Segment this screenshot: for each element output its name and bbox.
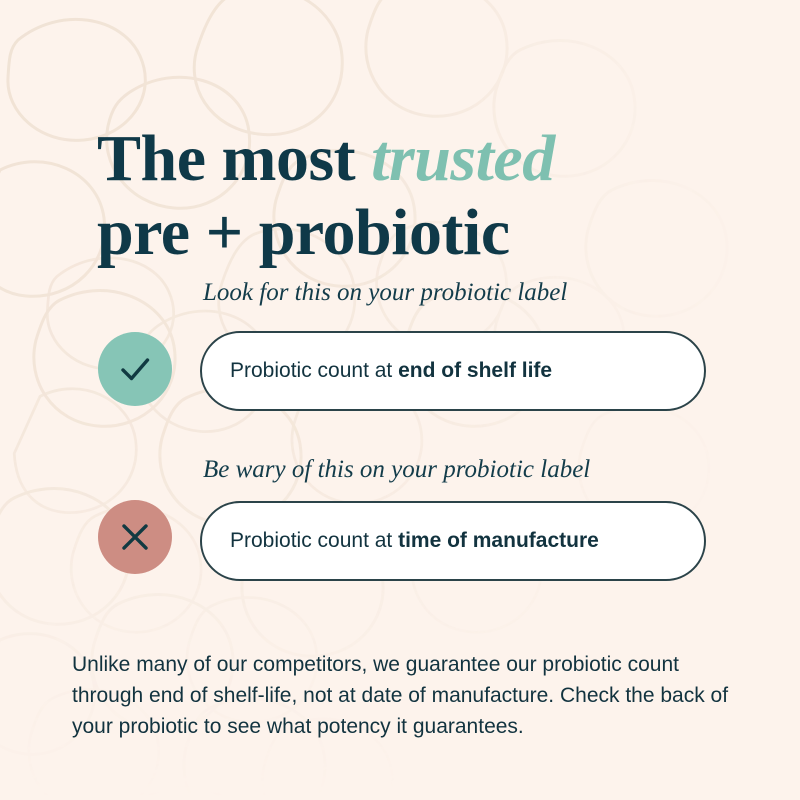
claim-pill-good-text: Probiotic count at end of shelf life — [202, 359, 552, 383]
claim-pill-bad-bold: time of manufacture — [398, 529, 599, 552]
claim-pill-bad: Probiotic count at time of manufacture — [200, 501, 706, 581]
headline-line-2: pre + probiotic — [97, 196, 737, 270]
check-badge — [98, 332, 172, 406]
footnote-text: Unlike many of our competitors, we guara… — [72, 649, 732, 742]
row-label-bad: Be wary of this on your probiotic label — [203, 455, 590, 485]
headline-line-1: The most trusted — [97, 122, 737, 196]
headline-accent-word: trusted — [371, 122, 555, 195]
claim-pill-good-plain: Probiotic count at — [230, 359, 398, 382]
headline-line-1-plain: The most — [97, 122, 371, 195]
promo-graphic: The most trusted pre + probiotic Look fo… — [0, 0, 800, 800]
claim-pill-good-bold: end of shelf life — [398, 359, 552, 382]
check-icon — [115, 349, 155, 389]
claim-pill-bad-text: Probiotic count at time of manufacture — [202, 529, 599, 553]
cross-badge — [98, 500, 172, 574]
row-label-good: Look for this on your probiotic label — [203, 278, 567, 308]
claim-pill-bad-plain: Probiotic count at — [230, 529, 398, 552]
page-title: The most trusted pre + probiotic — [97, 122, 737, 270]
claim-pill-good: Probiotic count at end of shelf life — [200, 331, 706, 411]
cross-icon — [115, 517, 155, 557]
